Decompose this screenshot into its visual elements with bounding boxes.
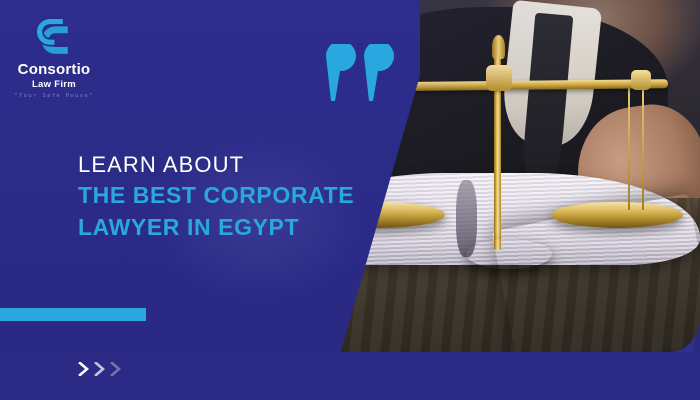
law-firm-hero-banner: Consortio Law Firm "Your Safe House" LEA… <box>0 0 700 400</box>
double-quote-icon <box>322 44 396 106</box>
brand-subtitle: Law Firm <box>8 79 100 90</box>
brand-name: Consortio <box>8 62 100 78</box>
headline-line-3: LAWYER IN EGYPT <box>78 212 378 244</box>
chevron-right-icon[interactable] <box>94 362 105 376</box>
headline-line-1: LEARN ABOUT <box>78 150 378 180</box>
chevron-group[interactable] <box>78 362 121 376</box>
chevron-right-icon[interactable] <box>110 362 121 376</box>
headline-block: LEARN ABOUT THE BEST CORPORATE LAWYER IN… <box>78 150 378 244</box>
brand-tagline: "Your Safe House" <box>8 93 100 99</box>
brand-logo[interactable]: Consortio Law Firm "Your Safe House" <box>8 14 100 99</box>
accent-rule <box>0 308 146 321</box>
bottom-blue-band <box>0 352 700 400</box>
chevron-right-icon[interactable] <box>78 362 89 376</box>
consortio-c-monogram-icon <box>32 14 76 58</box>
headline-line-2: THE BEST CORPORATE <box>78 180 378 212</box>
